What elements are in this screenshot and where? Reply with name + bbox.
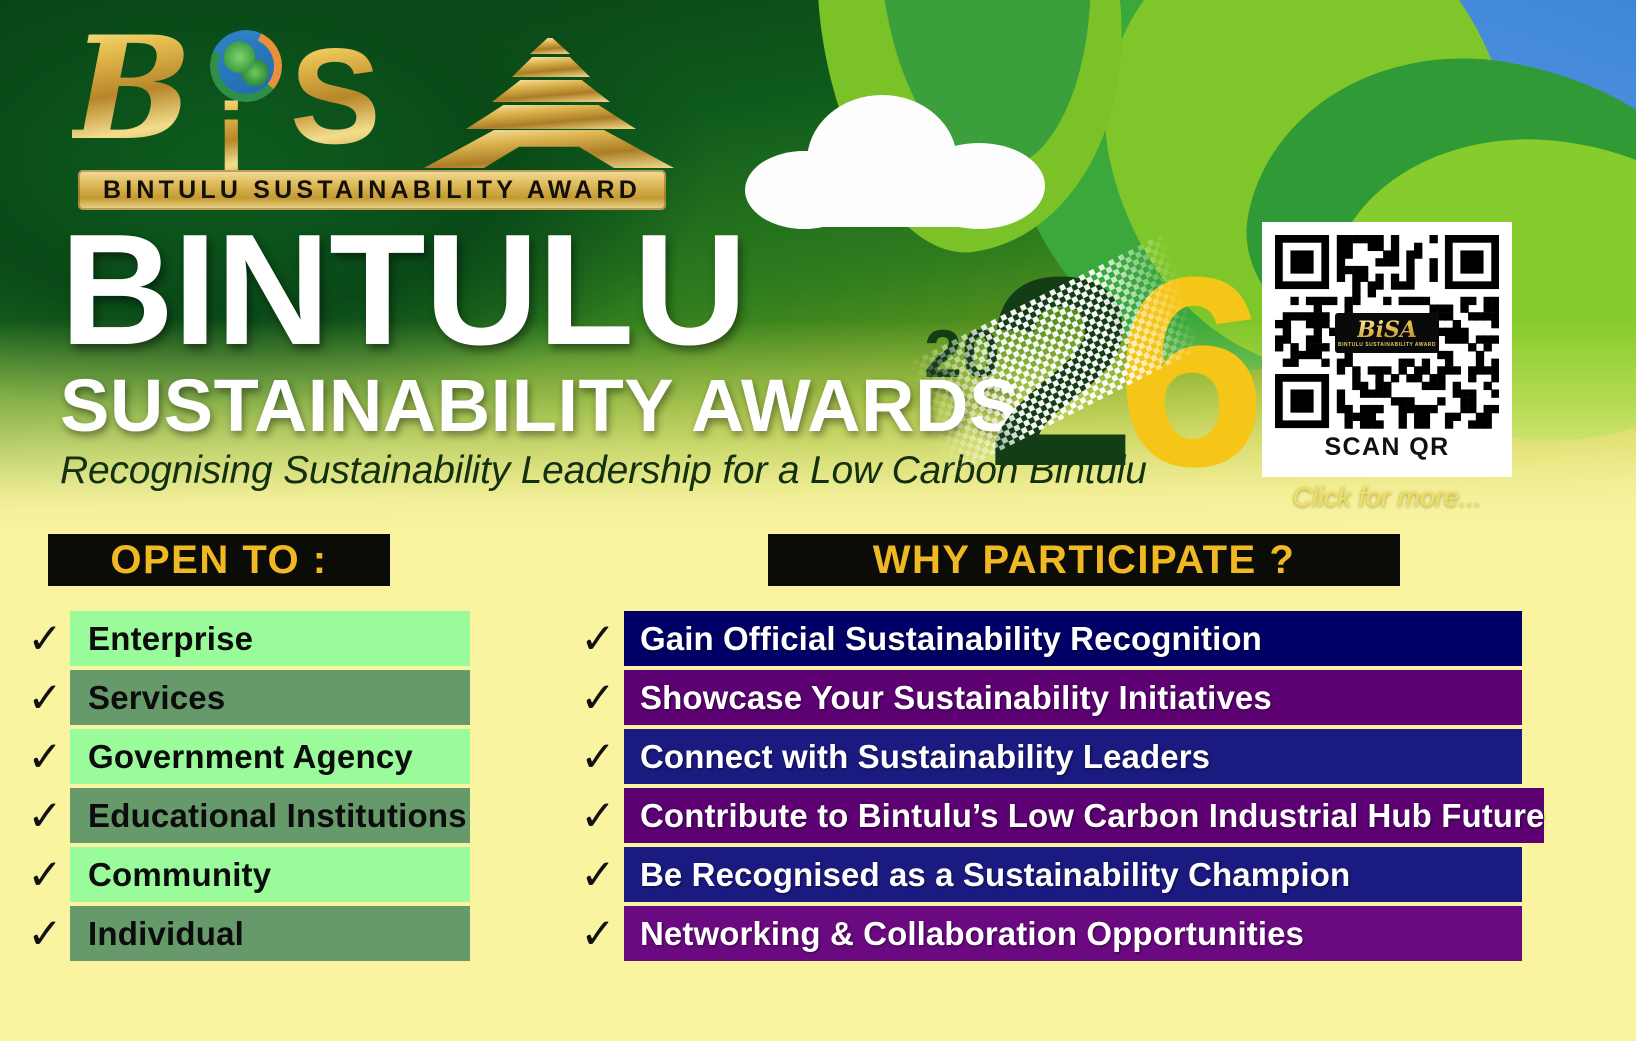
year-digit-two: 2 bbox=[986, 238, 1126, 508]
list-item: ✓Government Agency bbox=[20, 729, 470, 784]
section-header-open-to-label: OPEN TO : bbox=[110, 538, 327, 583]
check-icon: ✓ bbox=[20, 906, 70, 961]
section-header-why-label: WHY PARTICIPATE ? bbox=[873, 538, 1296, 583]
why-item-row-bar: Gain Official Sustainability Recognition bbox=[624, 611, 1522, 666]
check-icon: ✓ bbox=[20, 670, 70, 725]
check-icon: ✓ bbox=[572, 729, 624, 784]
open-to-item-label: Community bbox=[88, 856, 271, 894]
qr-click-for-more[interactable]: Click for more... bbox=[1262, 482, 1512, 513]
open-to-item-row-bar: Government Agency bbox=[70, 729, 470, 784]
open-to-list: ✓Enterprise✓Services✓Government Agency✓E… bbox=[20, 611, 470, 965]
qr-logo-caption: BINTULU SUSTAINABILITY AWARD bbox=[1338, 342, 1436, 348]
check-icon: ✓ bbox=[572, 670, 624, 725]
why-item-row-bar: Contribute to Bintulu’s Low Carbon Indus… bbox=[624, 788, 1544, 843]
why-participate-list: ✓Gain Official Sustainability Recognitio… bbox=[572, 611, 1522, 965]
open-to-item-row-bar: Educational Institutions bbox=[70, 788, 470, 843]
open-to-item-row-bar: Community bbox=[70, 847, 470, 902]
list-item: ✓Gain Official Sustainability Recognitio… bbox=[572, 611, 1522, 666]
open-to-item-label: Individual bbox=[88, 915, 244, 953]
check-icon: ✓ bbox=[20, 729, 70, 784]
check-icon: ✓ bbox=[572, 906, 624, 961]
year-digit-six: 6 bbox=[1116, 238, 1256, 508]
open-to-item-label: Educational Institutions bbox=[88, 797, 467, 835]
logo-letter-b: B bbox=[72, 18, 192, 160]
check-icon: ✓ bbox=[572, 611, 624, 666]
qr-code[interactable]: BiSA BINTULU SUSTAINABILITY AWARD bbox=[1275, 235, 1499, 431]
list-item: ✓Educational Institutions bbox=[20, 788, 470, 843]
open-to-item-row-bar: Enterprise bbox=[70, 611, 470, 666]
list-item: ✓Connect with Sustainability Leaders bbox=[572, 729, 1522, 784]
qr-logo-mark: BiSA bbox=[1357, 319, 1417, 341]
qr-center-logo: BiSA BINTULU SUSTAINABILITY AWARD bbox=[1335, 313, 1439, 353]
check-icon: ✓ bbox=[572, 788, 624, 843]
bisa-logo: B i S BINTULU SUSTAINABILITY AWARD bbox=[72, 24, 672, 214]
list-item: ✓Services bbox=[20, 670, 470, 725]
why-item-label: Networking & Collaboration Opportunities bbox=[640, 915, 1304, 953]
logo-nameplate-text: BINTULU SUSTAINABILITY AWARD bbox=[103, 176, 641, 205]
why-item-row-bar: Networking & Collaboration Opportunities bbox=[624, 906, 1522, 961]
open-to-item-row-bar: Services bbox=[70, 670, 470, 725]
check-icon: ✓ bbox=[20, 847, 70, 902]
list-item: ✓Community bbox=[20, 847, 470, 902]
bisa-logo-mark: B i S bbox=[72, 24, 672, 164]
why-item-label: Be Recognised as a Sustainability Champi… bbox=[640, 856, 1350, 894]
open-to-item-label: Enterprise bbox=[88, 620, 253, 658]
qr-block[interactable]: BiSA BINTULU SUSTAINABILITY AWARD SCAN Q… bbox=[1262, 222, 1512, 513]
open-to-item-row-bar: Individual bbox=[70, 906, 470, 961]
why-item-label: Connect with Sustainability Leaders bbox=[640, 738, 1210, 776]
why-item-row-bar: Be Recognised as a Sustainability Champi… bbox=[624, 847, 1522, 902]
open-to-item-label: Services bbox=[88, 679, 225, 717]
check-icon: ✓ bbox=[572, 847, 624, 902]
why-item-row-bar: Connect with Sustainability Leaders bbox=[624, 729, 1522, 784]
check-icon: ✓ bbox=[20, 788, 70, 843]
why-item-label: Gain Official Sustainability Recognition bbox=[640, 620, 1262, 658]
year-prefix: 20 bbox=[924, 320, 1000, 388]
cloud-icon bbox=[745, 95, 1045, 223]
logo-letter-s: S bbox=[290, 28, 381, 164]
year-badge: 2 6 20 bbox=[918, 238, 1218, 500]
why-item-label: Showcase Your Sustainability Initiatives bbox=[640, 679, 1272, 717]
check-icon: ✓ bbox=[20, 611, 70, 666]
section-header-open-to: OPEN TO : bbox=[48, 534, 390, 586]
list-item: ✓Enterprise bbox=[20, 611, 470, 666]
list-item: ✓Networking & Collaboration Opportunitie… bbox=[572, 906, 1522, 961]
why-item-row-bar: Showcase Your Sustainability Initiatives bbox=[624, 670, 1522, 725]
open-to-item-label: Government Agency bbox=[88, 738, 413, 776]
section-header-why-participate: WHY PARTICIPATE ? bbox=[768, 534, 1400, 586]
why-item-label: Contribute to Bintulu’s Low Carbon Indus… bbox=[640, 797, 1544, 835]
qr-card[interactable]: BiSA BINTULU SUSTAINABILITY AWARD SCAN Q… bbox=[1262, 222, 1512, 477]
list-item: ✓Be Recognised as a Sustainability Champ… bbox=[572, 847, 1522, 902]
pagoda-tower-icon bbox=[424, 38, 674, 166]
list-item: ✓Individual bbox=[20, 906, 470, 961]
list-item: ✓Showcase Your Sustainability Initiative… bbox=[572, 670, 1522, 725]
qr-label: SCAN QR bbox=[1275, 433, 1499, 462]
list-item: ✓Contribute to Bintulu’s Low Carbon Indu… bbox=[572, 788, 1522, 843]
